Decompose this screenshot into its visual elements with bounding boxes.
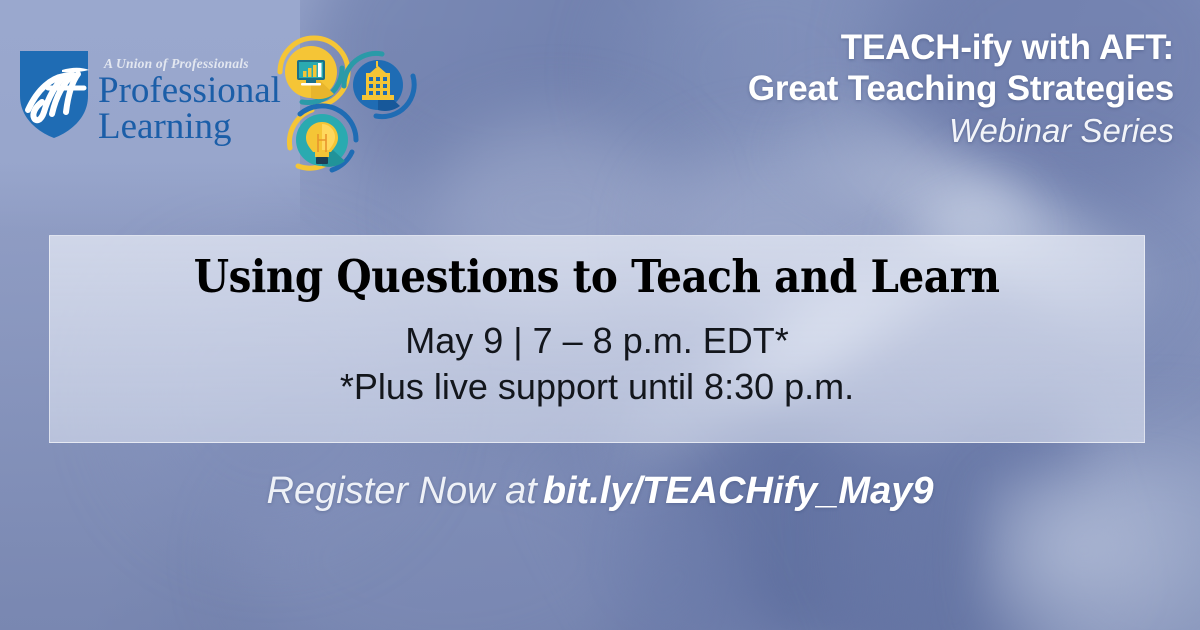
register-lead-text: Register Now at (267, 470, 537, 512)
program-name-line2: Learning (98, 109, 281, 145)
lightbulb-icon (289, 106, 356, 170)
event-support-note: *Plus live support until 8:30 p.m. (340, 364, 854, 410)
logo-wordmark: A Union of Professionals Professional Le… (98, 56, 281, 145)
school-building-icon (344, 53, 414, 116)
event-schedule: May 9 | 7 – 8 p.m. EDT* *Plus live suppo… (340, 318, 854, 410)
series-title-block: TEACH-ify with AFT: Great Teaching Strat… (748, 28, 1174, 151)
register-cta[interactable]: Register Now atbit.ly/TEACHify_May9 (0, 470, 1200, 513)
program-name-line1: Professional (98, 73, 281, 109)
aft-shield-icon (18, 48, 90, 140)
chart-monitor-icon (280, 38, 348, 106)
event-headline: Using Questions to Teach and Learn (194, 252, 1000, 302)
event-datetime: May 9 | 7 – 8 p.m. EDT* (340, 318, 854, 364)
register-url-link[interactable]: bit.ly/TEACHify_May9 (543, 470, 934, 512)
series-subtitle: Webinar Series (748, 111, 1174, 151)
series-title-line2: Great Teaching Strategies (748, 69, 1174, 110)
series-title-line1: TEACH-ify with AFT: (748, 28, 1174, 69)
icon-cluster (272, 28, 422, 178)
event-details-panel: Using Questions to Teach and Learn May 9… (49, 235, 1145, 443)
promo-graphic: A Union of Professionals Professional Le… (0, 0, 1200, 630)
aft-professional-learning-logo: A Union of Professionals Professional Le… (18, 48, 281, 145)
